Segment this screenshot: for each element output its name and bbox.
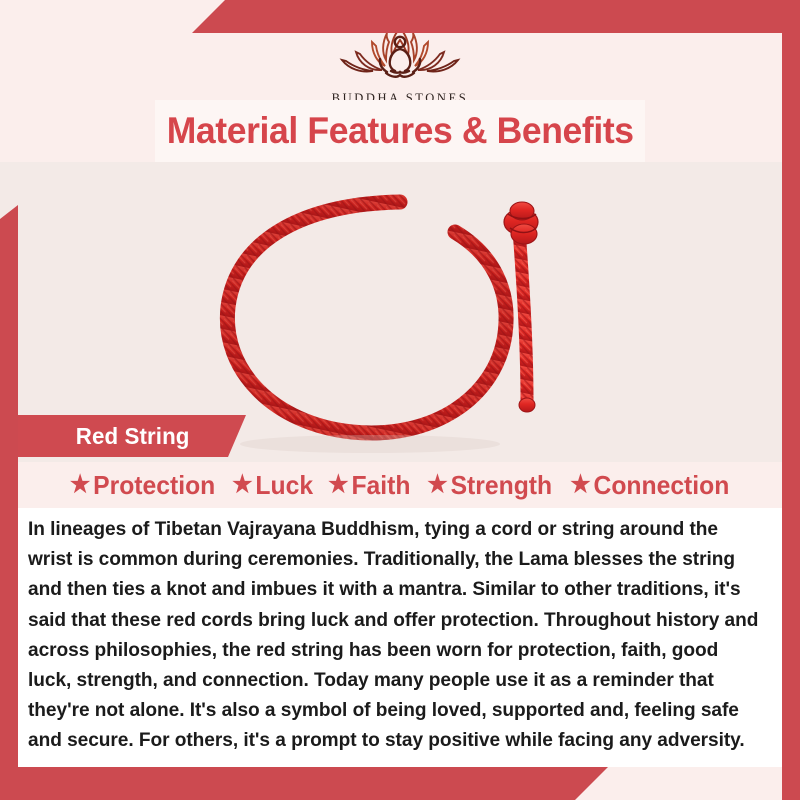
benefit-item: ★ Protection [70, 470, 215, 501]
benefits-row: ★ Protection ★ Luck ★ Faith ★ Strength ★… [18, 462, 782, 508]
page-title: Material Features & Benefits [167, 110, 634, 152]
benefit-item: ★ Faith [329, 470, 411, 501]
benefit-label: Luck [256, 470, 314, 501]
benefit-item: ★ Luck [232, 470, 313, 501]
star-icon: ★ [427, 473, 447, 497]
star-icon: ★ [571, 473, 591, 497]
star-icon: ★ [232, 473, 252, 497]
benefit-item: ★ Connection [571, 470, 730, 501]
benefit-label: Faith [352, 470, 411, 501]
page-title-band: Material Features & Benefits [155, 100, 645, 162]
benefit-label: Strength [451, 470, 553, 501]
benefit-item: ★ Strength [427, 470, 552, 501]
infographic-page: BUDDHA STONES Material Features & Benefi… [0, 0, 800, 800]
benefit-label: Protection [93, 470, 215, 501]
star-icon: ★ [70, 473, 90, 497]
brand-logo: BUDDHA STONES [0, 22, 800, 102]
benefit-label: Connection [594, 470, 730, 501]
frame-left-band [0, 205, 18, 800]
description-panel: In lineages of Tibetan Vajrayana Buddhis… [18, 508, 782, 767]
description-text: In lineages of Tibetan Vajrayana Buddhis… [28, 514, 761, 756]
product-tag: Red String [18, 415, 246, 457]
star-icon: ★ [329, 473, 349, 497]
frame-right-band [782, 0, 800, 800]
frame-bottom-band [0, 767, 800, 800]
product-tag-label: Red String [76, 423, 190, 450]
